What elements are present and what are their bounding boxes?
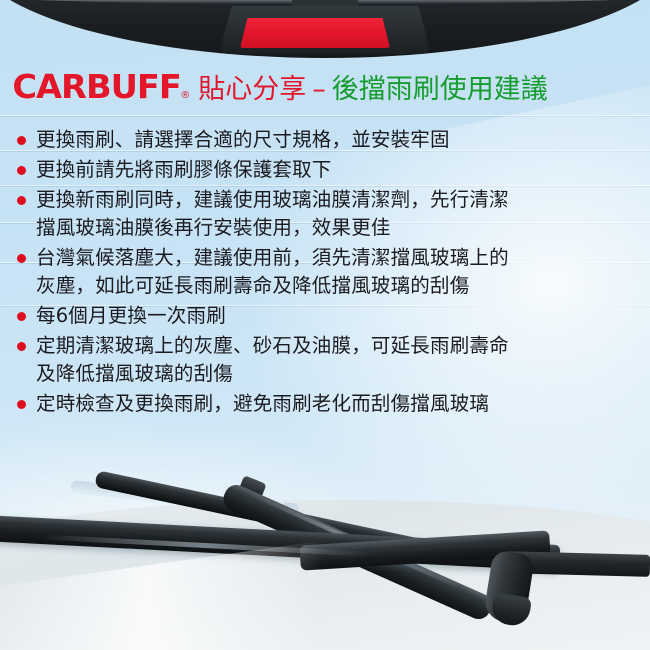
list-item: 定時檢查及更換雨刷，避免雨刷老化而刮傷擋風玻璃 (12, 390, 642, 418)
list-item-line: 擋風玻璃油膜後再行安裝使用，效果更佳 (36, 214, 642, 242)
bullet-dot-icon (17, 342, 26, 351)
list-item-line: 灰塵，如此可延長雨刷壽命及降低擋風玻璃的刮傷 (36, 272, 642, 300)
list-item-line: 定期清潔玻璃上的灰塵、砂石及油膜，可延長雨刷壽命 (36, 332, 642, 360)
carbuff-logo: CARBUFF (12, 67, 181, 106)
bullet-dot-icon (17, 254, 26, 263)
promo-banner: CARBUFF ® 貼心分享 – 後擋雨刷使用建議 更換雨刷、請選擇合適的尺寸規… (0, 0, 650, 650)
list-item: 定期清潔玻璃上的灰塵、砂石及油膜，可延長雨刷壽命 及降低擋風玻璃的刮傷 (12, 332, 642, 388)
defroster-line (0, 115, 650, 116)
title-dash: – (312, 74, 326, 105)
bullet-dot-icon (17, 312, 26, 321)
list-item-line: 台灣氣候落塵大，建議使用前，須先清潔擋風玻璃上的 (36, 244, 642, 272)
list-item: 更換雨刷、請選擇合適的尺寸規格，並安裝牢固 (12, 126, 642, 154)
list-item-line: 更換雨刷、請選擇合適的尺寸規格，並安裝牢固 (36, 126, 642, 154)
list-item: 更換前請先將雨刷膠條保護套取下 (12, 156, 642, 184)
list-item: 台灣氣候落塵大，建議使用前，須先清潔擋風玻璃上的 灰塵，如此可延長雨刷壽命及降低… (12, 244, 642, 300)
list-item: 更換新雨刷同時，建議使用玻璃油膜清潔劑，先行清潔 擋風玻璃油膜後再行安裝使用，效… (12, 186, 642, 242)
banner-title: CARBUFF ® 貼心分享 – 後擋雨刷使用建議 (14, 67, 548, 106)
bullet-dot-icon (17, 166, 26, 175)
title-subtitle-red: 貼心分享 (198, 67, 306, 106)
list-item-line: 更換新雨刷同時，建議使用玻璃油膜清潔劑，先行清潔 (36, 186, 642, 214)
list-item-line: 定時檢查及更換雨刷，避免雨刷老化而刮傷擋風玻璃 (36, 390, 642, 418)
list-item: 每6個月更換一次雨刷 (12, 302, 642, 330)
bullet-dot-icon (17, 400, 26, 409)
tips-list: 更換雨刷、請選擇合適的尺寸規格，並安裝牢固 更換前請先將雨刷膠條保護套取下 更換… (12, 126, 642, 420)
registered-trademark-icon: ® (180, 90, 190, 101)
list-item-line: 每6個月更換一次雨刷 (36, 302, 642, 330)
third-brake-light (240, 18, 390, 48)
bullet-dot-icon (17, 136, 26, 145)
list-item-line: 及降低擋風玻璃的刮傷 (36, 360, 642, 388)
list-item-line: 更換前請先將雨刷膠條保護套取下 (36, 156, 642, 184)
title-subtitle-green: 後擋雨刷使用建議 (332, 67, 548, 106)
bullet-dot-icon (17, 196, 26, 205)
